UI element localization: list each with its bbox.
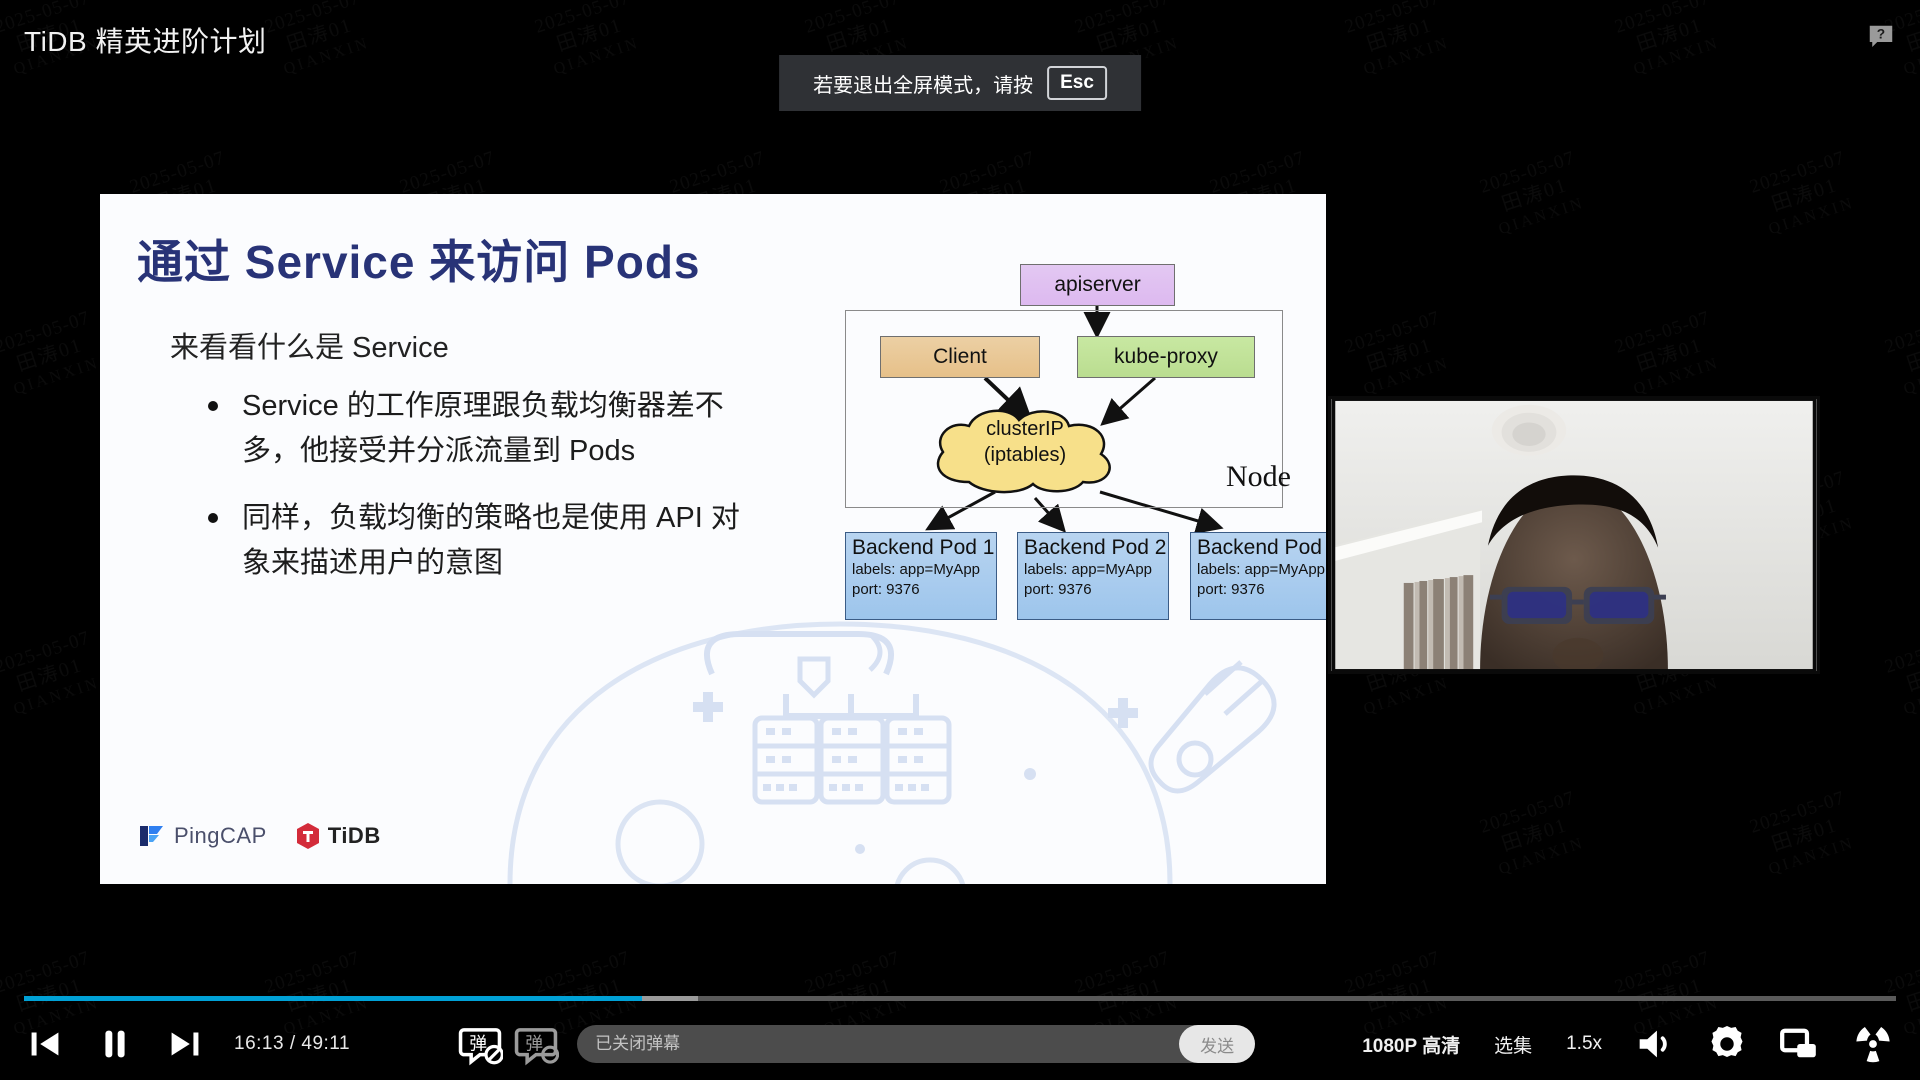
previous-episode-button[interactable] — [22, 1021, 68, 1067]
volume-button[interactable] — [1632, 1021, 1678, 1067]
pod-port: port: 9376 — [852, 580, 991, 600]
pingcap-logo-icon — [138, 823, 166, 849]
total-time: 49:11 — [301, 1033, 350, 1054]
pingcap-logo-text: PingCAP — [174, 823, 267, 849]
bullet-dot-icon — [208, 401, 218, 411]
pod-title: Backend Pod 1 — [852, 536, 991, 560]
backend-pod-2: Backend Pod 2 labels: app=MyApp port: 93… — [1017, 532, 1169, 620]
time-separator: / — [290, 1033, 296, 1054]
quality-selector[interactable]: 1080P 高清 — [1362, 1031, 1460, 1058]
watermark-tile: 2025-05-07田涛01QIANXIN — [0, 306, 107, 400]
danmaku-disabled-icon: 弹 — [457, 1021, 503, 1067]
help-icon[interactable]: ? — [1864, 20, 1898, 54]
client-node: Client — [880, 336, 1040, 378]
volume-icon — [1632, 1021, 1678, 1067]
esc-key-badge: Esc — [1047, 66, 1107, 100]
picture-in-picture-icon — [1776, 1021, 1822, 1067]
danmaku-input[interactable] — [577, 1025, 1217, 1063]
svg-text:弹: 弹 — [525, 1033, 543, 1054]
backend-pod-3: Backend Pod 3 labels: app=MyApp port: 93… — [1190, 532, 1326, 620]
pod-port: port: 9376 — [1197, 580, 1326, 600]
play-pause-button[interactable] — [92, 1021, 138, 1067]
backend-pod-1: Backend Pod 1 labels: app=MyApp port: 93… — [845, 532, 997, 620]
web-fullscreen-icon — [1850, 1021, 1896, 1067]
pod-title: Backend Pod 3 — [1197, 536, 1326, 560]
slide-lead-text: 来看看什么是 Service — [170, 324, 449, 366]
pod-labels: labels: app=MyApp — [1024, 560, 1163, 580]
presenter-webcam-overlay[interactable] — [1328, 396, 1820, 674]
cluster-ip-line2: (iptables) — [925, 442, 1125, 468]
webcam-video-frame — [1331, 399, 1817, 671]
watermark-tile: 2025-05-07田涛01QIANXIN — [532, 0, 647, 81]
svg-text:?: ? — [1877, 26, 1885, 41]
player-controls: 16:13 / 49:11 弹 弹 发送 1080P 高清 选集 1.5x — [0, 1008, 1920, 1080]
slide-logos: PingCAP TiDB — [138, 822, 381, 850]
slide-canvas: 通过 Service 来访问 Pods 来看看什么是 Service Servi… — [100, 194, 1326, 884]
pod-title: Backend Pod 2 — [1024, 536, 1163, 560]
watermark-tile: 2025-05-07田涛01QIANXIN — [1342, 0, 1457, 81]
tidb-logo-icon — [295, 822, 321, 850]
pause-icon — [92, 1021, 138, 1067]
watermark-tile: 2025-05-07田涛01QIANXIN — [1882, 306, 1920, 400]
watermark-tile: 2025-05-07田涛01QIANXIN — [0, 626, 107, 720]
fullscreen-toast-text: 若要退出全屏模式，请按 — [813, 69, 1033, 98]
episode-list-button[interactable]: 选集 — [1494, 1031, 1532, 1058]
pod-port: port: 9376 — [1024, 580, 1163, 600]
playback-speed-button[interactable]: 1.5x — [1566, 1033, 1602, 1055]
web-fullscreen-button[interactable] — [1850, 1021, 1896, 1067]
help-speech-bubble-icon: ? — [1866, 22, 1896, 52]
previous-episode-icon — [22, 1021, 68, 1067]
danmaku-settings-icon: 弹 — [513, 1021, 559, 1067]
node-label: Node — [1226, 460, 1291, 494]
danmaku-settings-button[interactable]: 弹 — [513, 1021, 559, 1067]
slide-bullet-list: Service 的工作原理跟负载均衡器差不多，他接受并分派流量到 Pods 同样… — [208, 384, 768, 608]
progress-track[interactable] — [24, 996, 1896, 1001]
time-display: 16:13 / 49:11 — [234, 1033, 350, 1055]
watermark-tile: 2025-05-07田涛01QIANXIN — [1747, 146, 1862, 240]
tidb-logo: TiDB — [295, 822, 381, 850]
watermark-tile: 2025-05-07田涛01QIANXIN — [262, 0, 377, 81]
watermark-tile: 2025-05-07田涛01QIANXIN — [1342, 306, 1457, 400]
fullscreen-exit-toast: 若要退出全屏模式，请按 Esc — [779, 55, 1141, 111]
current-time: 16:13 — [234, 1033, 284, 1054]
list-item: 同样，负载均衡的策略也是使用 API 对象来描述用户的意图 — [208, 496, 768, 586]
cluster-ip-label: clusterIP (iptables) — [925, 416, 1125, 468]
video-player-fullscreen: 2025-05-07田涛01QIANXIN2025-05-07田涛01QIANX… — [0, 0, 1920, 1080]
pingcap-logo: PingCAP — [138, 823, 267, 849]
next-episode-button[interactable] — [162, 1021, 208, 1067]
bullet-dot-icon — [208, 513, 218, 523]
pod-labels: labels: app=MyApp — [852, 560, 991, 580]
watermark-tile: 2025-05-07田涛01QIANXIN — [1882, 626, 1920, 720]
apiserver-node: apiserver — [1020, 264, 1175, 306]
danmaku-toggle-button[interactable]: 弹 — [457, 1021, 503, 1067]
bullet-text: 同样，负载均衡的策略也是使用 API 对象来描述用户的意图 — [242, 496, 768, 586]
bullet-text: Service 的工作原理跟负载均衡器差不多，他接受并分派流量到 Pods — [242, 384, 768, 474]
watermark-tile: 2025-05-07田涛01QIANXIN — [1477, 146, 1592, 240]
send-danmaku-button[interactable]: 发送 — [1179, 1025, 1255, 1063]
watermark-tile: 2025-05-07田涛01QIANXIN — [1477, 786, 1592, 880]
cluster-ip-line1: clusterIP — [925, 416, 1125, 442]
watermark-tile: 2025-05-07田涛01QIANXIN — [1747, 786, 1862, 880]
tidb-logo-text: TiDB — [328, 823, 381, 849]
service-architecture-diagram: apiserver Client kube-proxy Node cluster… — [845, 264, 1305, 704]
picture-in-picture-button[interactable] — [1776, 1021, 1822, 1067]
progress-played — [24, 996, 642, 1001]
slide-title: 通过 Service 来访问 Pods — [137, 226, 701, 292]
pod-labels: labels: app=MyApp — [1197, 560, 1326, 580]
list-item: Service 的工作原理跟负载均衡器差不多，他接受并分派流量到 Pods — [208, 384, 768, 474]
gear-icon — [1704, 1021, 1750, 1067]
watermark-tile: 2025-05-07田涛01QIANXIN — [1612, 306, 1727, 400]
kube-proxy-node: kube-proxy — [1077, 336, 1255, 378]
watermark-tile: 2025-05-07田涛01QIANXIN — [1612, 0, 1727, 81]
progress-bar[interactable] — [0, 996, 1920, 1006]
next-episode-icon — [162, 1021, 208, 1067]
settings-button[interactable] — [1704, 1021, 1750, 1067]
page-title: TiDB 精英进阶计划 — [24, 20, 266, 60]
svg-text:弹: 弹 — [469, 1033, 487, 1054]
